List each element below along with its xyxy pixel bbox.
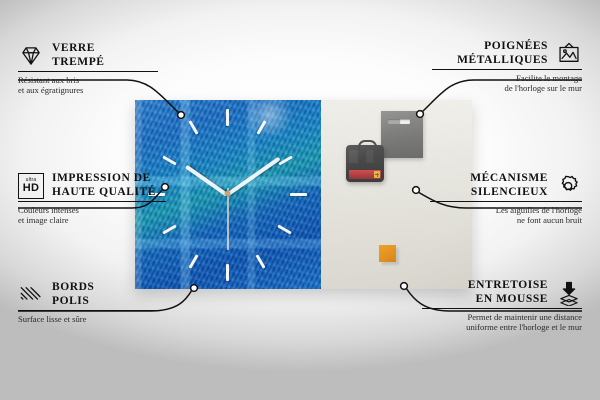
- mechanism-housing-detail: [349, 150, 380, 163]
- picture-hanger-icon: [556, 41, 582, 67]
- feature-bords-polis: BORDS POLIS Surface lisse et sûre: [18, 281, 162, 324]
- hour-marker: [188, 120, 198, 134]
- hour-hand: [185, 165, 228, 197]
- feature-impression-haute-qualite: ultra HD IMPRESSION DE HAUTE QUALITÉ Cou…: [18, 172, 166, 225]
- feature-sub: Permet de maintenir une distance: [422, 312, 582, 322]
- feature-mecanisme-silencieux: MÉCANISME SILENCIEUX Les aiguilles de l'…: [430, 172, 582, 225]
- mechanism-hanging-loop: [358, 140, 377, 150]
- hanger-keyhole-slot: [388, 119, 410, 124]
- feature-title: POIGNÉES: [457, 40, 548, 54]
- feature-title: TREMPÉ: [52, 56, 105, 70]
- hour-marker: [290, 193, 307, 196]
- gear-icon: [556, 173, 582, 199]
- feature-entretoise-en-mousse: ENTRETOISE EN MOUSSE Permet de maintenir…: [422, 279, 582, 332]
- feature-sub: Résistant aux bris: [18, 75, 158, 85]
- feature-title: MÉTALLIQUES: [457, 54, 548, 68]
- minute-hand: [226, 157, 281, 197]
- product-image: [135, 100, 472, 289]
- divider: [422, 308, 582, 309]
- feature-sub: Les aiguilles de l'horloge: [430, 205, 582, 215]
- hour-marker: [188, 254, 198, 268]
- feature-sub: Facilite le montage: [432, 73, 582, 83]
- feature-title: VERRE: [52, 42, 105, 56]
- clock-mechanism: [346, 145, 384, 182]
- feature-title: IMPRESSION DE: [52, 172, 156, 186]
- hour-marker: [255, 254, 265, 268]
- infographic-canvas: VERRE TREMPÉ Résistant aux bris et aux é…: [0, 0, 600, 400]
- feature-sub: ne font aucun bruit: [430, 215, 582, 225]
- feature-sub: Couleurs intenses: [18, 205, 166, 215]
- clock-center-cap: [225, 191, 230, 196]
- hour-marker: [226, 264, 229, 281]
- feature-title: EN MOUSSE: [468, 293, 548, 307]
- hour-marker: [226, 109, 229, 126]
- feature-title: POLIS: [52, 295, 94, 309]
- feature-title: BORDS: [52, 281, 94, 295]
- divider: [18, 310, 162, 311]
- feature-sub: uniforme entre l'horloge et le mur: [422, 322, 582, 332]
- diamond-icon: [18, 43, 44, 69]
- foam-spacer-icon: [556, 280, 582, 306]
- feature-verre-trempe: VERRE TREMPÉ Résistant aux bris et aux é…: [18, 42, 158, 95]
- hour-marker: [278, 155, 292, 165]
- divider: [18, 71, 158, 72]
- battery-plus-terminal: [374, 171, 380, 178]
- hour-marker: [277, 224, 291, 234]
- hour-marker: [162, 155, 176, 165]
- feature-sub: Surface lisse et sûre: [18, 314, 162, 324]
- feature-poignees-metalliques: POIGNÉES MÉTALLIQUES Facilite le montage…: [432, 40, 582, 93]
- hour-marker: [256, 120, 266, 134]
- metal-hanger-plate: [381, 111, 423, 158]
- polished-edges-icon: [18, 282, 44, 308]
- divider: [18, 201, 166, 202]
- feature-title: MÉCANISME: [470, 172, 548, 186]
- ultra-hd-icon-big-text: HD: [23, 183, 40, 194]
- ultra-hd-icon: ultra HD: [18, 173, 44, 199]
- feature-sub: et image claire: [18, 215, 166, 225]
- feature-title: ENTRETOISE: [468, 279, 548, 293]
- foam-spacer: [379, 245, 396, 262]
- feature-sub: et aux égratignures: [18, 85, 158, 95]
- battery: [349, 170, 381, 179]
- second-hand: [227, 188, 229, 250]
- feature-sub: de l'horloge sur le mur: [432, 83, 582, 93]
- divider: [430, 201, 582, 202]
- hour-marker: [162, 224, 176, 234]
- feature-title: HAUTE QUALITÉ: [52, 186, 156, 200]
- divider: [432, 69, 582, 70]
- feature-title: SILENCIEUX: [470, 186, 548, 200]
